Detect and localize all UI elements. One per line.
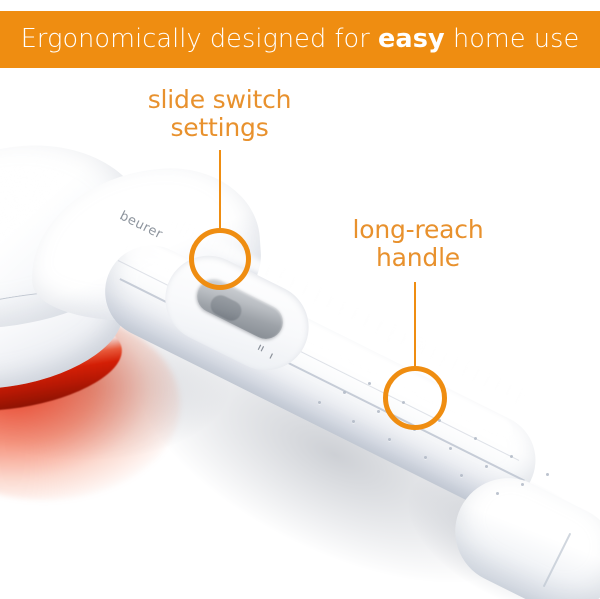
page-title: Ergonomically designed for easy home use bbox=[21, 27, 580, 53]
callout-leader-line-long-reach-handle bbox=[414, 282, 416, 366]
callout-line-1: slide switch bbox=[112, 86, 327, 114]
header-text-before: Ergonomically designed for bbox=[21, 24, 378, 54]
header-emphasis-word: easy bbox=[378, 24, 445, 54]
callout-leader-line-slide-switch bbox=[219, 150, 221, 228]
callout-line-2: settings bbox=[112, 114, 327, 142]
product-feature-image: Ergonomically designed for easy home use… bbox=[0, 0, 600, 599]
header-text-after: home use bbox=[445, 24, 580, 54]
callout-line-1: long-reach bbox=[318, 216, 518, 244]
callout-circle-long-reach-handle bbox=[383, 366, 447, 430]
handle-dot bbox=[546, 473, 549, 476]
callout-label-slide-switch: slide switch settings bbox=[112, 86, 327, 142]
callout-line-2: handle bbox=[318, 244, 518, 272]
callout-circle-slide-switch bbox=[189, 228, 251, 290]
callout-label-long-reach-handle: long-reach handle bbox=[318, 216, 518, 272]
